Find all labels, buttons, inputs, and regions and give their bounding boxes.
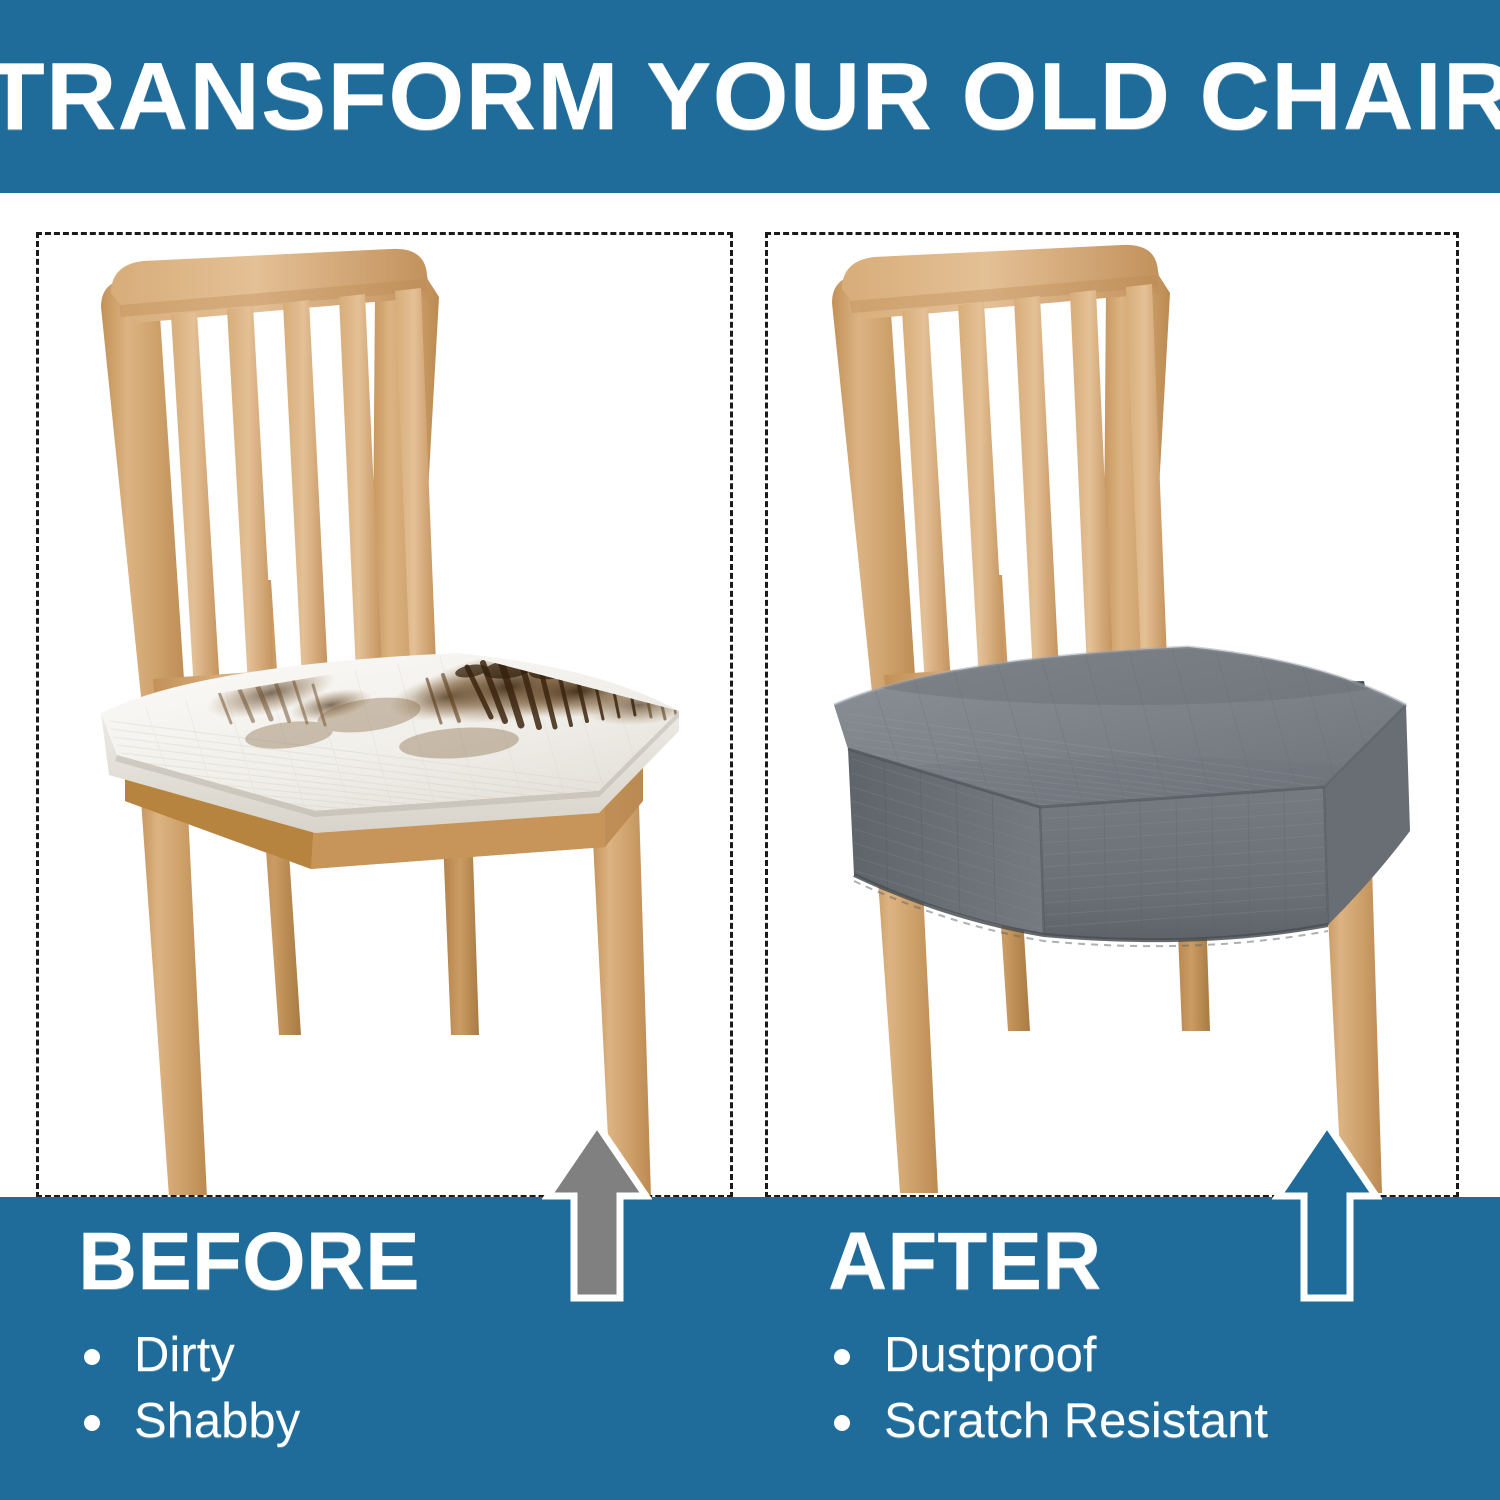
- after-bullet-0: Dustproof: [884, 1328, 1096, 1382]
- before-bullet-0: Dirty: [134, 1328, 235, 1382]
- list-item: Dustproof: [828, 1327, 1268, 1385]
- before-panel: [36, 232, 733, 1198]
- list-item: Dirty: [78, 1327, 420, 1385]
- list-item: Shabby: [78, 1393, 420, 1451]
- after-panel: [765, 232, 1459, 1198]
- up-arrow-gray-icon: [542, 1120, 652, 1305]
- bullet-dot-icon: [84, 1415, 100, 1431]
- after-heading: AFTER: [828, 1221, 1268, 1303]
- before-chair-illustration: [39, 235, 730, 1195]
- page-title: TRANSFORM YOUR OLD CHAIR: [0, 49, 1500, 145]
- after-bullet-list: Dustproof Scratch Resistant: [828, 1327, 1268, 1451]
- up-arrow-blue-icon: [1272, 1120, 1382, 1305]
- before-bullet-list: Dirty Shabby: [78, 1327, 420, 1451]
- bullet-dot-icon: [84, 1349, 100, 1365]
- before-caption-block: BEFORE Dirty Shabby: [78, 1221, 420, 1459]
- list-item: Scratch Resistant: [828, 1393, 1268, 1451]
- header-banner: TRANSFORM YOUR OLD CHAIR: [0, 0, 1500, 193]
- bullet-dot-icon: [834, 1349, 850, 1365]
- bullet-dot-icon: [834, 1415, 850, 1431]
- after-chair-illustration: [768, 235, 1456, 1195]
- after-caption-block: AFTER Dustproof Scratch Resistant: [828, 1221, 1268, 1459]
- before-heading: BEFORE: [78, 1221, 420, 1303]
- after-bullet-1: Scratch Resistant: [884, 1394, 1268, 1448]
- before-bullet-1: Shabby: [134, 1394, 300, 1448]
